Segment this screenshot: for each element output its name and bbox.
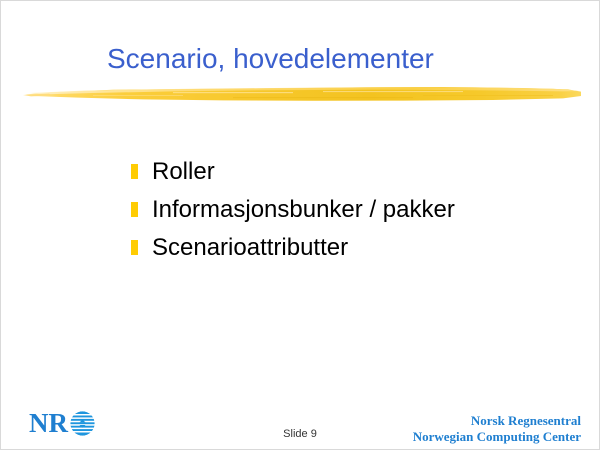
list-item-label: Scenarioattributter bbox=[152, 232, 571, 263]
list-item: Scenarioattributter bbox=[131, 232, 571, 270]
brush-stroke-shape bbox=[23, 79, 583, 105]
list-item-label: Roller bbox=[152, 156, 571, 187]
slide-title: Scenario, hovedelementer bbox=[107, 42, 527, 76]
bullet-marker-icon bbox=[131, 240, 138, 255]
list-item-label: Informasjonsbunker / pakker bbox=[152, 194, 571, 225]
bullet-marker-icon bbox=[131, 164, 138, 179]
brush-stroke-divider bbox=[23, 79, 583, 105]
list-item: Roller bbox=[131, 156, 571, 194]
bullet-list: Roller Informasjonsbunker / pakker Scena… bbox=[131, 156, 571, 270]
bullet-marker-icon bbox=[131, 202, 138, 217]
organization-name: Norsk Regnesentral Norwegian Computing C… bbox=[413, 413, 581, 445]
list-item: Informasjonsbunker / pakker bbox=[131, 194, 571, 232]
organization-name-line2: Norwegian Computing Center bbox=[413, 429, 581, 445]
organization-name-line1: Norsk Regnesentral bbox=[413, 413, 581, 429]
presentation-slide: Scenario, hovedelementer bbox=[0, 0, 600, 450]
